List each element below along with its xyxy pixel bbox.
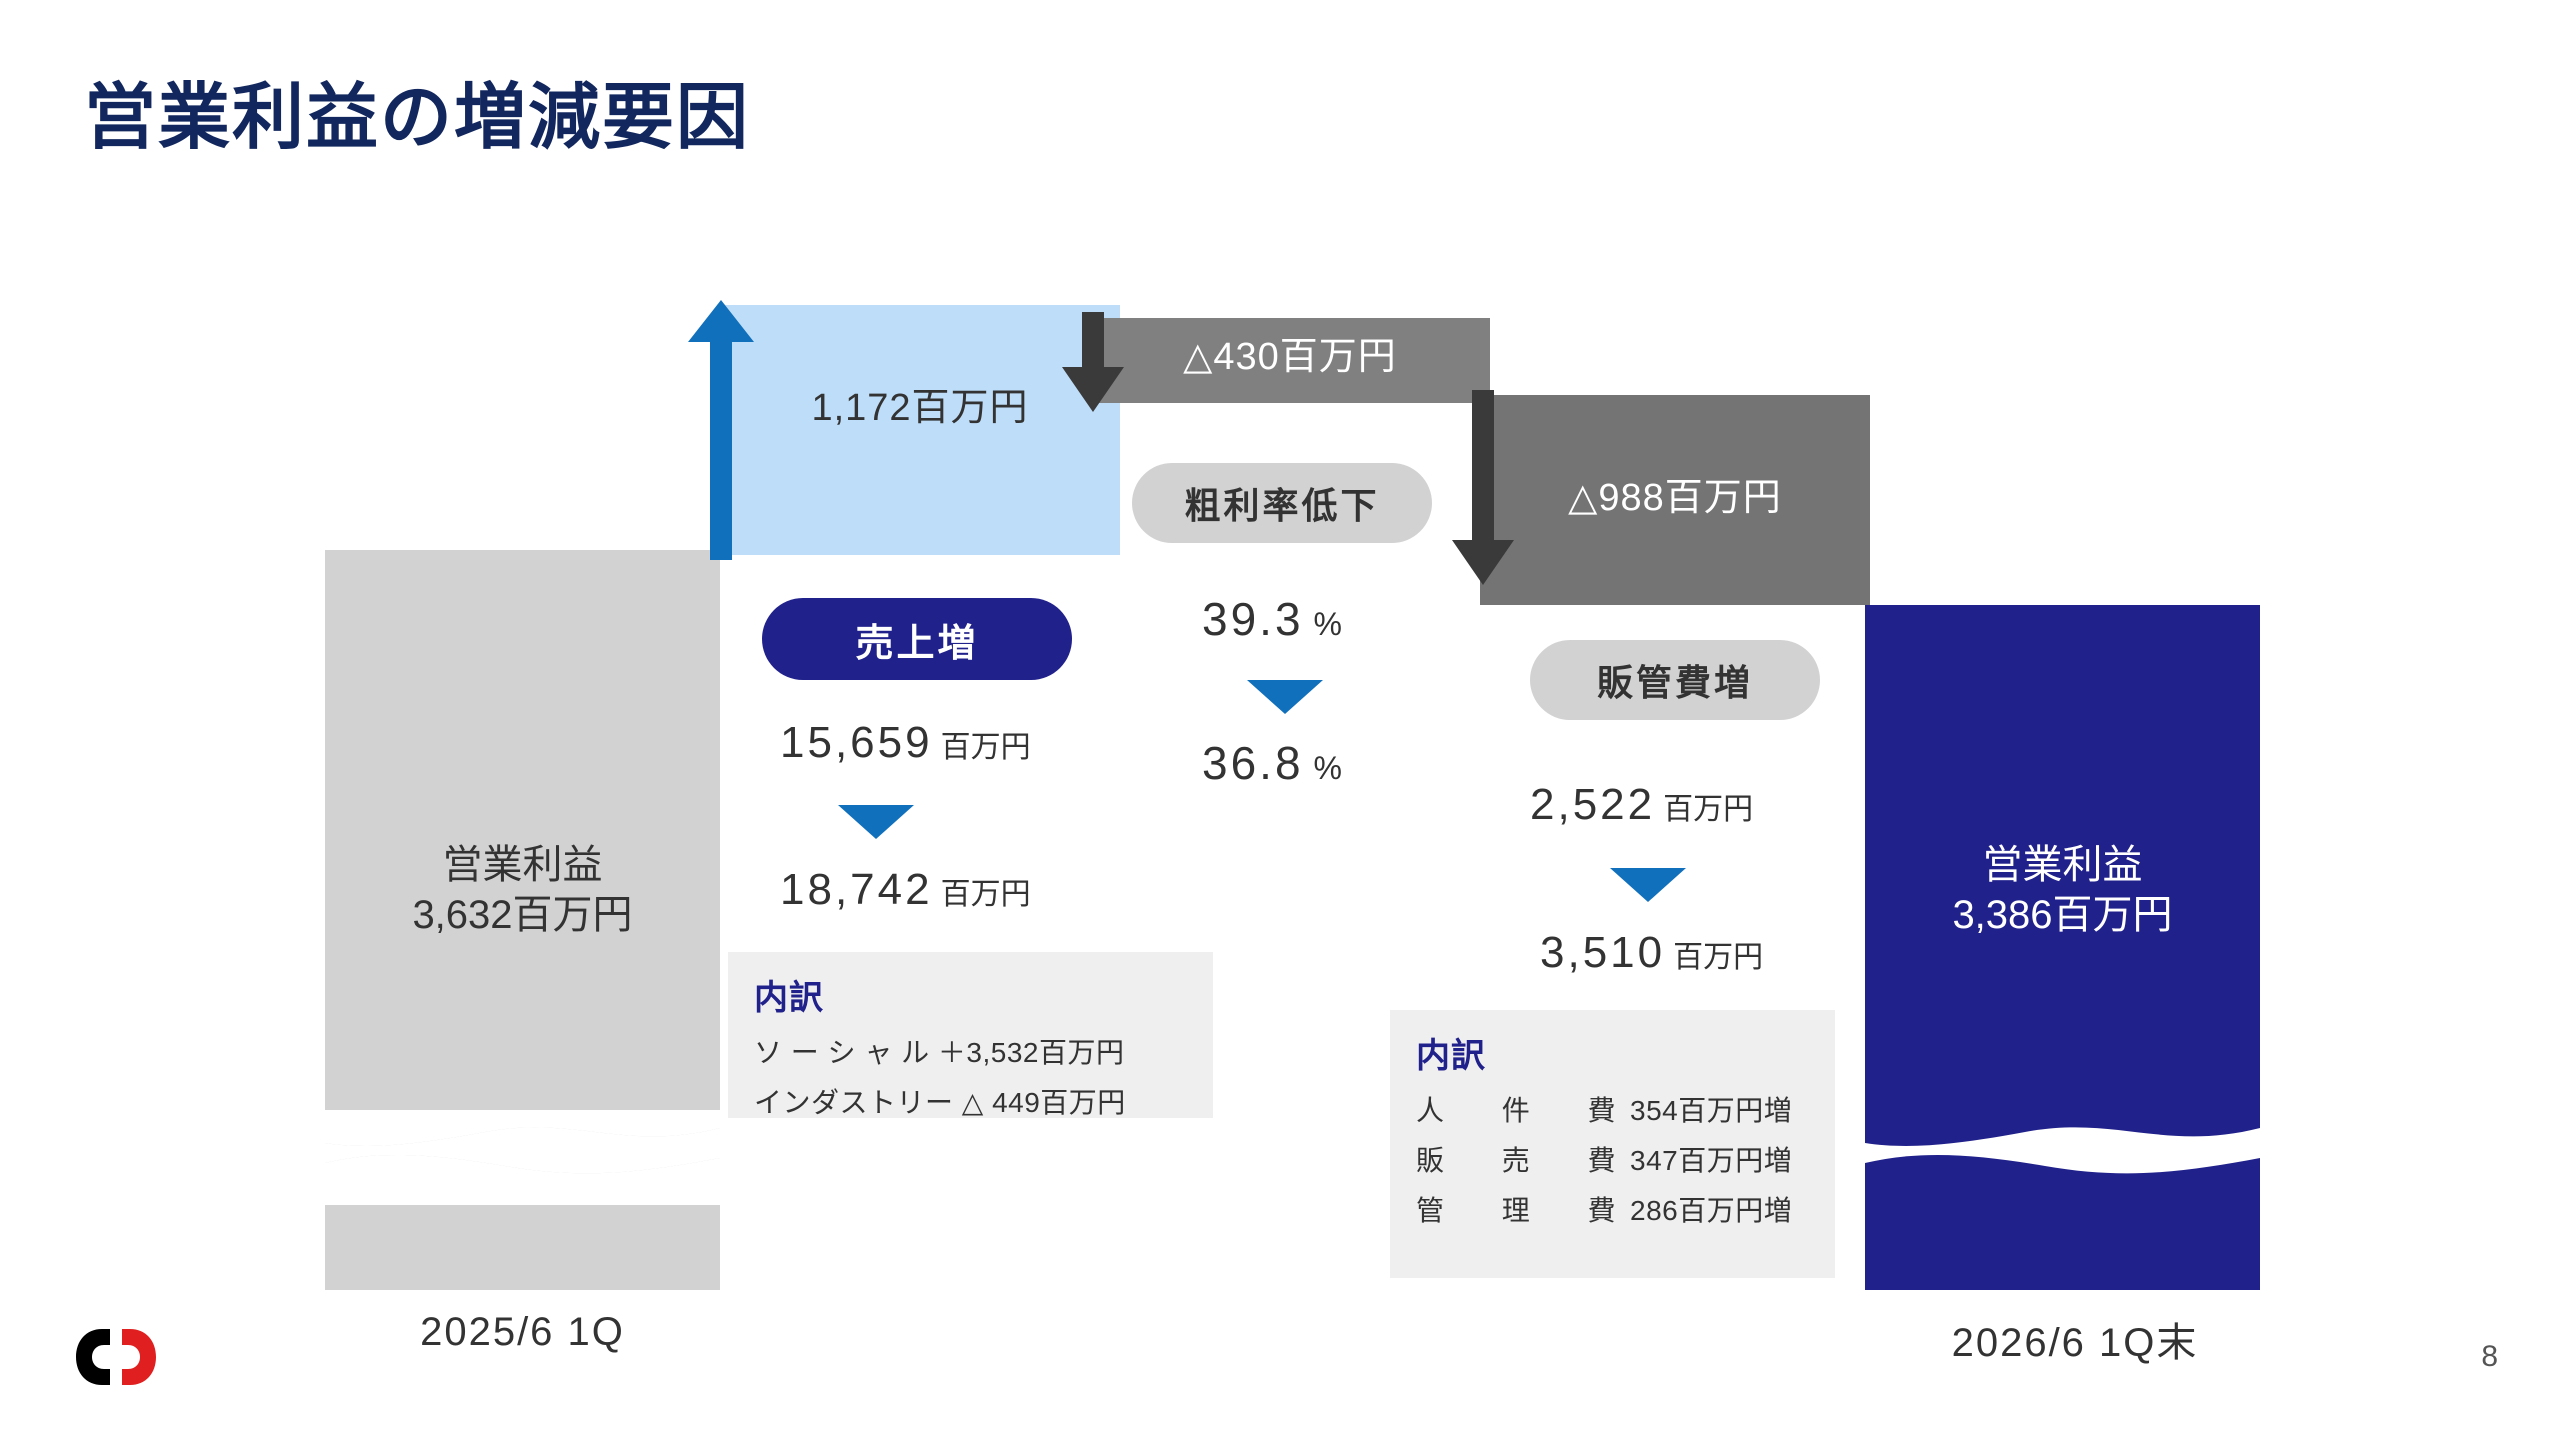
breakdown-sales-row: ソ ー シ ャ ル ＋3,532百万円 bbox=[754, 1031, 1187, 1071]
bar-increase-sales: 1,172百万円 bbox=[720, 305, 1120, 555]
bar-decrease-sga-label: △988百万円 bbox=[1480, 475, 1870, 523]
axis-label-start: 2025/6 1Q bbox=[325, 1310, 720, 1355]
pill-sga-increase: 販管費増 bbox=[1530, 640, 1820, 720]
sga-before-number: 2,522 bbox=[1530, 780, 1655, 829]
breakdown-sga-row-amount: 354百万円増 bbox=[1630, 1089, 1792, 1129]
bar-start-label-line2: 3,632百万円 bbox=[325, 890, 720, 940]
bar-end-label-line1: 営業利益 bbox=[1865, 840, 2260, 890]
company-logo-icon bbox=[72, 1325, 160, 1389]
breakdown-sga-char: 費 bbox=[1587, 1139, 1616, 1179]
breakdown-sga-row-name: 管 理 費 bbox=[1416, 1189, 1616, 1229]
margin-after-value: 36.8% bbox=[1202, 736, 1342, 790]
axis-label-end: 2026/6 1Q末 bbox=[1865, 1310, 2285, 1368]
page-number: 8 bbox=[2481, 1340, 2498, 1374]
sales-before-unit: 百万円 bbox=[941, 731, 1031, 764]
sga-before-unit: 百万円 bbox=[1663, 793, 1753, 826]
sga-after-unit: 百万円 bbox=[1673, 941, 1763, 974]
arrow-down-icon-sga bbox=[1452, 390, 1514, 585]
sales-after-number: 18,742 bbox=[780, 865, 933, 914]
sga-after-number: 3,510 bbox=[1540, 928, 1665, 977]
breakdown-sga-char: 件 bbox=[1502, 1089, 1531, 1129]
sales-before-number: 15,659 bbox=[780, 718, 933, 767]
sales-after-unit: 百万円 bbox=[941, 878, 1031, 911]
margin-before-unit: % bbox=[1314, 606, 1342, 642]
breakdown-sga-char: 販 bbox=[1416, 1139, 1445, 1179]
pill-sales-increase: 売上増 bbox=[762, 598, 1072, 680]
margin-after-unit: % bbox=[1314, 750, 1342, 786]
triangle-down-icon-sales bbox=[838, 805, 914, 839]
sga-before-value: 2,522百万円 bbox=[1530, 780, 1753, 830]
bar-start-label: 営業利益 3,632百万円 bbox=[325, 840, 720, 940]
bar-start-operating-profit: 営業利益 3,632百万円 bbox=[325, 550, 720, 1290]
breakdown-sga-char: 理 bbox=[1502, 1189, 1531, 1229]
breakdown-sales-title: 内訳 bbox=[754, 970, 1187, 1019]
breakdown-sga-row-name: 人 件 費 bbox=[1416, 1089, 1616, 1129]
sales-after-value: 18,742百万円 bbox=[780, 865, 1031, 915]
bar-decrease-margin-label: △430百万円 bbox=[1090, 334, 1490, 382]
breakdown-sga-row-name: 販 売 費 bbox=[1416, 1139, 1616, 1179]
slide-root: 営業利益の増減要因 営業利益 3,632百万円 営業利益 3,386百万円 1,… bbox=[0, 0, 2560, 1440]
arrow-up-icon bbox=[688, 300, 754, 560]
bar-decrease-sga: △988百万円 bbox=[1480, 395, 1870, 605]
breakdown-sga-row: 人 件 費 354百万円増 bbox=[1416, 1089, 1809, 1129]
bar-start-label-line1: 営業利益 bbox=[325, 840, 720, 890]
margin-before-number: 39.3 bbox=[1202, 593, 1304, 645]
margin-before-value: 39.3% bbox=[1202, 592, 1342, 646]
breakdown-sga: 内訳 人 件 費 354百万円増 販 売 費 347百万円増 bbox=[1390, 1010, 1835, 1278]
bar-decrease-margin: △430百万円 bbox=[1090, 318, 1490, 403]
bar-end-label-line2: 3,386百万円 bbox=[1865, 890, 2260, 940]
breakdown-sga-row: 販 売 費 347百万円増 bbox=[1416, 1139, 1809, 1179]
breakdown-sales-row: インダストリー △ 449百万円 bbox=[754, 1081, 1187, 1121]
breakdown-sga-char: 売 bbox=[1502, 1139, 1531, 1179]
breakdown-sga-row-amount: 286百万円増 bbox=[1630, 1189, 1792, 1229]
breakdown-sga-row-amount: 347百万円増 bbox=[1630, 1139, 1792, 1179]
triangle-down-icon-sga bbox=[1610, 868, 1686, 902]
breakdown-sga-char: 人 bbox=[1416, 1089, 1445, 1129]
breakdown-sga-char: 費 bbox=[1587, 1189, 1616, 1229]
breakdown-sga-char: 費 bbox=[1587, 1089, 1616, 1129]
margin-after-number: 36.8 bbox=[1202, 737, 1304, 789]
arrow-down-icon-margin bbox=[1062, 312, 1124, 412]
bar-increase-label: 1,172百万円 bbox=[720, 385, 1120, 433]
triangle-down-icon-margin bbox=[1247, 680, 1323, 714]
waterfall-chart: 営業利益 3,632百万円 営業利益 3,386百万円 1,172百万円 △43… bbox=[0, 0, 2560, 1440]
bar-end-label: 営業利益 3,386百万円 bbox=[1865, 840, 2260, 940]
breakdown-sga-title: 内訳 bbox=[1416, 1028, 1809, 1077]
bar-end-operating-profit: 営業利益 3,386百万円 bbox=[1865, 605, 2260, 1290]
sales-before-value: 15,659百万円 bbox=[780, 718, 1031, 768]
pill-margin-decline: 粗利率低下 bbox=[1132, 463, 1432, 543]
breakdown-sales: 内訳 ソ ー シ ャ ル ＋3,532百万円 インダストリー △ 449百万円 bbox=[728, 952, 1213, 1118]
breakdown-sga-char: 管 bbox=[1416, 1189, 1445, 1229]
breakdown-sga-row: 管 理 費 286百万円増 bbox=[1416, 1189, 1809, 1229]
sga-after-value: 3,510百万円 bbox=[1540, 928, 1763, 978]
